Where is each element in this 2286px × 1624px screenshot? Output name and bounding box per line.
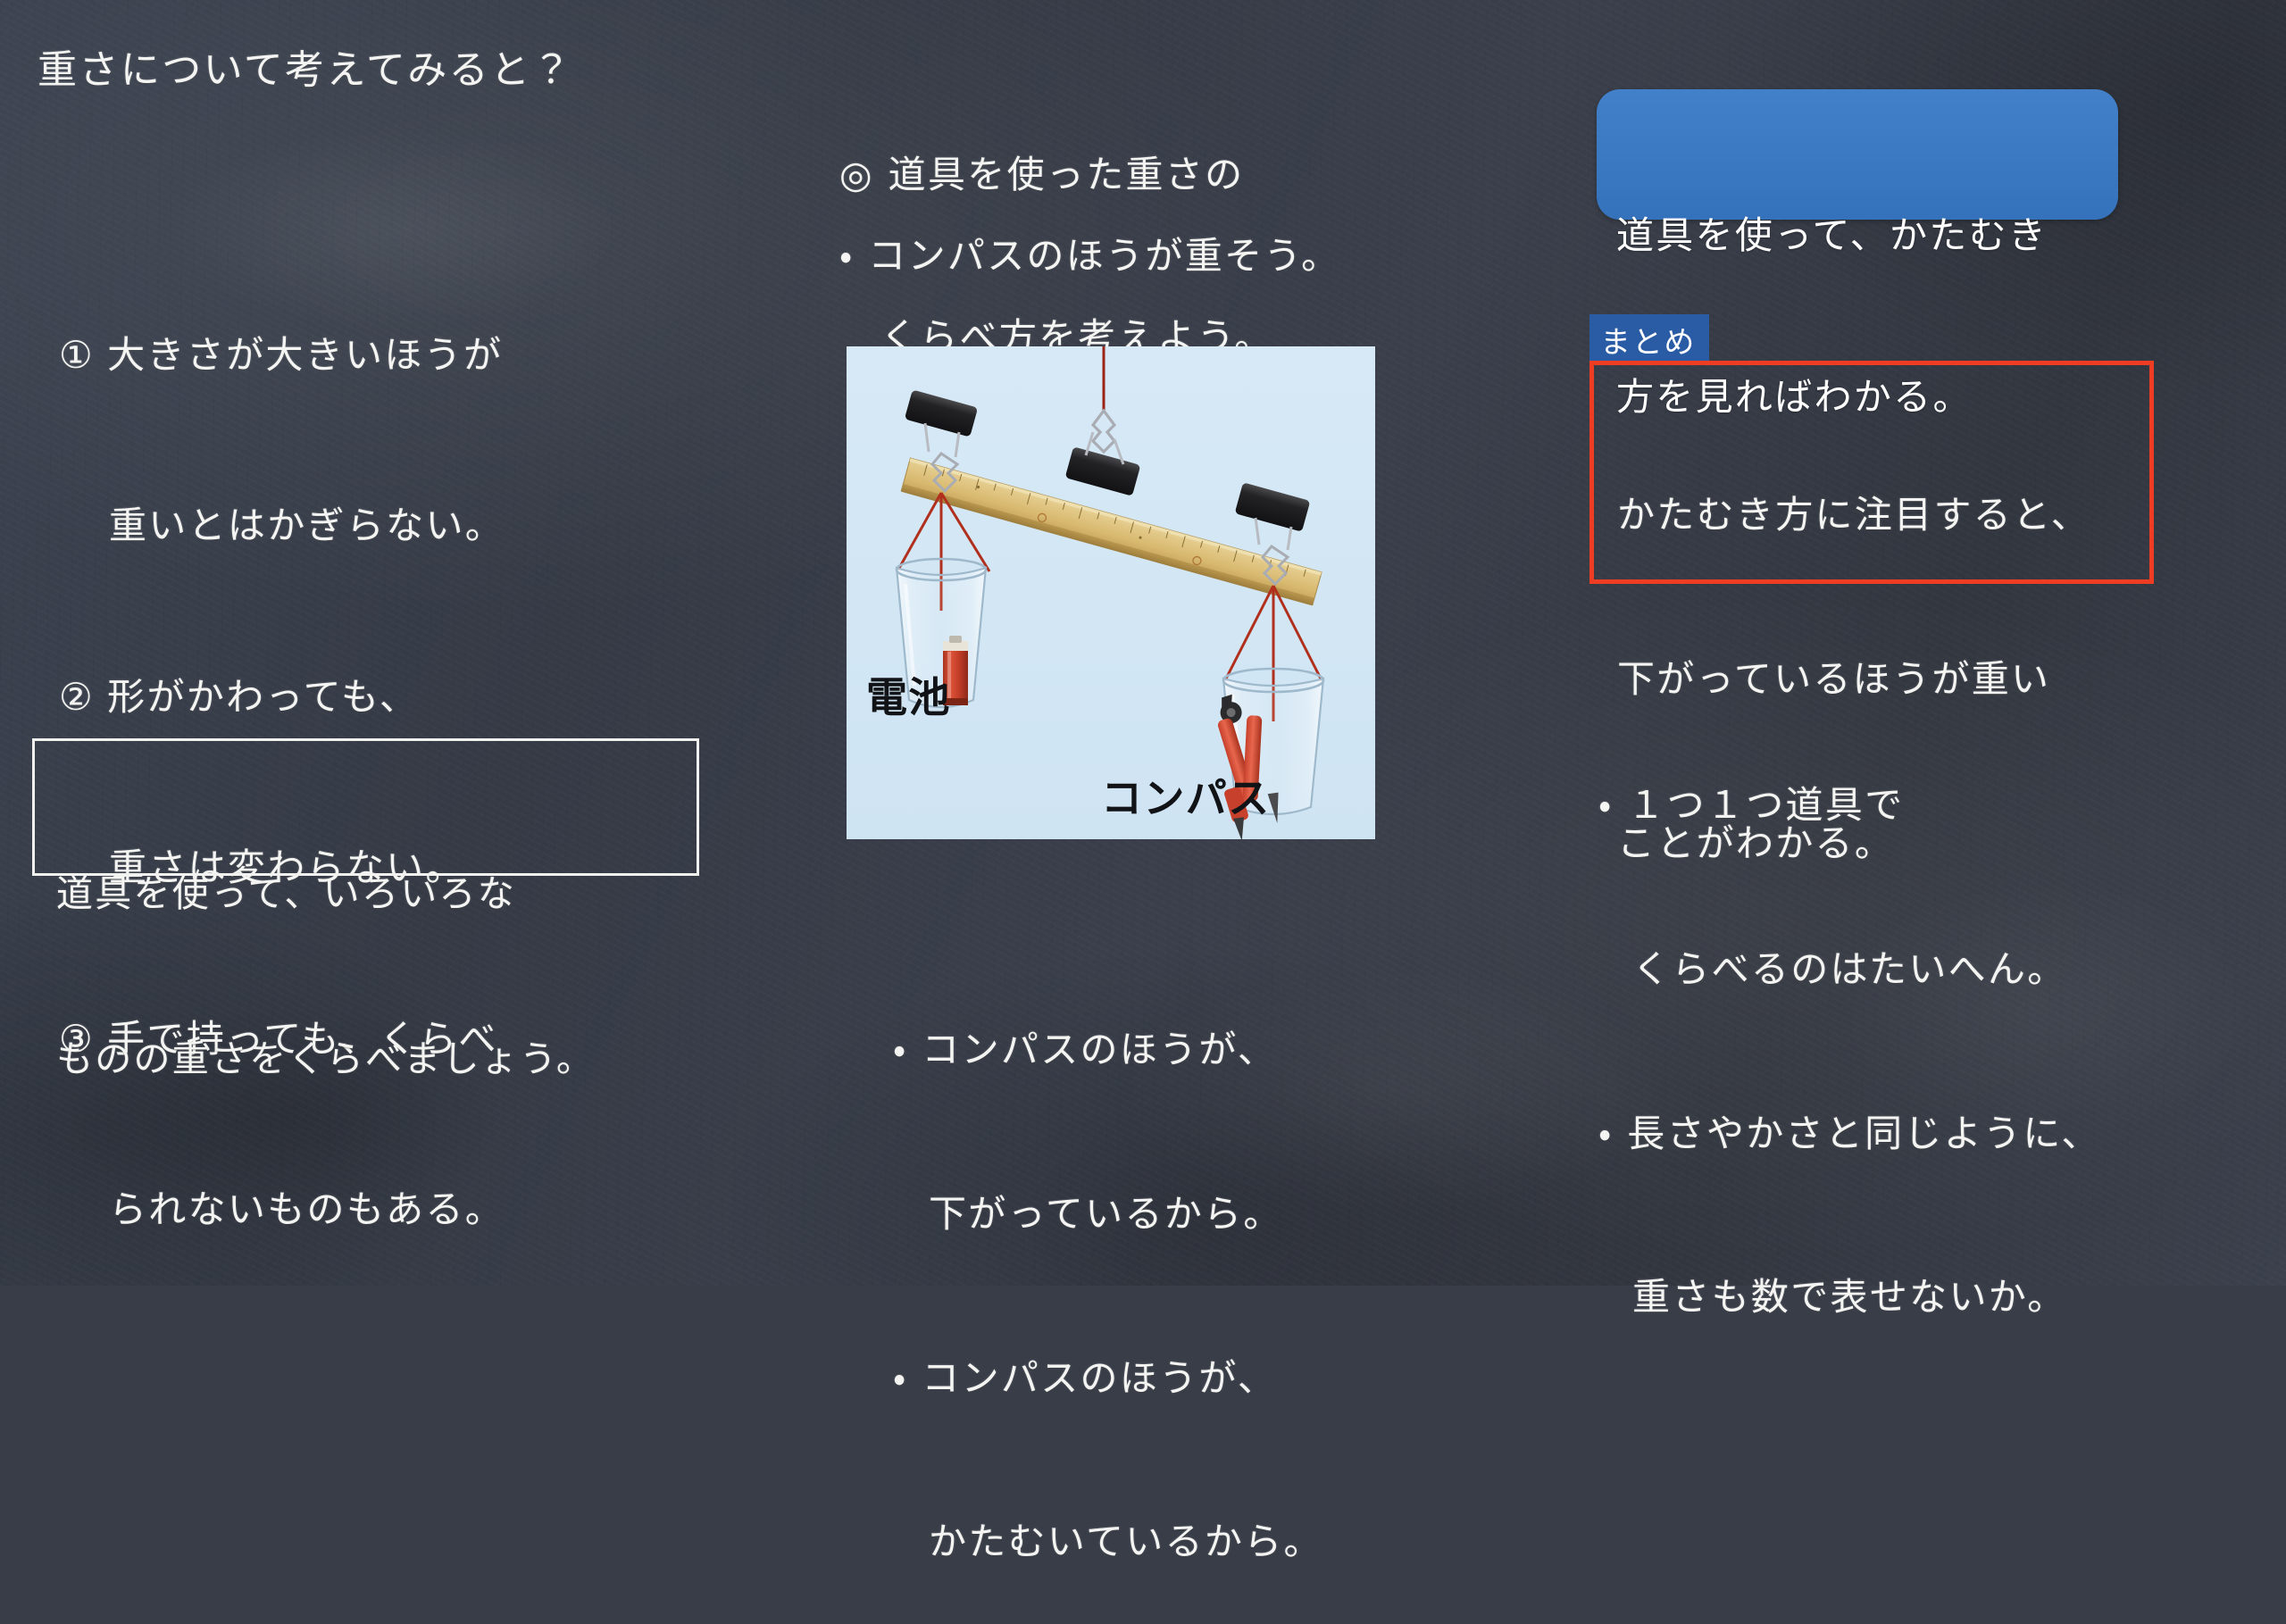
lesson-goal-text: 道具を使った重さの — [889, 153, 1245, 196]
prediction-bullet: ・ コンパスのほうが重そう。 — [839, 230, 1340, 283]
reason-1-text: コンパスのほうが、 — [922, 1028, 1277, 1071]
photo-caption-battery: 電池 — [866, 665, 951, 724]
list-item-1-text: 大きさが大きいほうが — [107, 333, 503, 377]
question-title: 重さについて考えてみると？ — [38, 43, 573, 98]
summary-badge: まとめ — [1589, 314, 1709, 361]
reason-1-line2: 下がっているから。 — [893, 1187, 1323, 1241]
note-1-text: １つ１つ道具で — [1627, 783, 1904, 827]
list-item-1-number: ① — [59, 333, 94, 377]
list-item-2-text: 形がかわっても、 — [107, 675, 419, 719]
activity-instruction-text: 道具を使って、いろいろな ものの重さをくらべましょう。 — [56, 757, 595, 1196]
reason-1-line1: ・ コンパスのほうが、 — [893, 1022, 1323, 1077]
list-item-1-line1: ① 大きさが大きいほうが — [59, 327, 505, 384]
bullet-dot-icon: ・ — [1598, 783, 1614, 827]
bullet-dot-icon: ・ — [893, 1028, 908, 1071]
activity-line-2: ものの重さをくらべましょう。 — [56, 1032, 595, 1087]
conclusion-callout: 道具を使って、かたむき 方を見ればわかる。 — [1597, 89, 2118, 220]
reason-2-line2: かたむいているから。 — [893, 1514, 1323, 1569]
goal-marker-icon: ◎ — [839, 153, 874, 196]
bullet-dot-icon: ・ — [839, 234, 855, 278]
reason-2-line1: ・ コンパスのほうが、 — [893, 1351, 1323, 1405]
summary-line-1: かたむき方に注目すると、 — [1617, 487, 2090, 542]
list-item-2-number: ② — [59, 675, 94, 719]
next-question-list: ・ １つ１つ道具で くらべるのはたいへん。 ・ 長さやかさと同じように、 重さも… — [1598, 668, 2101, 1379]
prediction-text: コンパスのほうが重そう。 — [868, 234, 1340, 278]
note-1-line1: ・ １つ１つ道具で — [1598, 778, 2101, 832]
note-2-line2: 重さも数で表せないか。 — [1598, 1270, 2101, 1324]
summary-box: かたむき方に注目すると、 下がっているほうが重い ことがわかる。 — [1589, 361, 2154, 584]
activity-line-1: 道具を使って、いろいろな — [56, 867, 595, 922]
note-2-line1: ・ 長さやかさと同じように、 — [1598, 1106, 2101, 1161]
note-2-text: 長さやかさと同じように、 — [1627, 1112, 2100, 1155]
note-1-line2: くらべるのはたいへん。 — [1598, 942, 2101, 996]
balance-experiment-photo: 電池 コンパス — [847, 346, 1375, 839]
bullet-dot-icon: ・ — [893, 1356, 908, 1400]
summary-badge-label: まとめ — [1600, 318, 1696, 362]
list-item-2-line1: ② 形がかわっても、 — [59, 669, 505, 726]
photo-caption-compass: コンパス — [1101, 766, 1271, 825]
bullet-dot-icon: ・ — [1598, 1112, 1614, 1155]
callout-line-1: 道具を使って、かたむき — [1616, 209, 2048, 262]
binder-clip-center — [1065, 432, 1141, 496]
list-item-1-line2: 重いとはかぎらない。 — [59, 497, 505, 554]
reason-list: ・ コンパスのほうが、 下がっているから。 ・ コンパスのほうが、 かたむいてい… — [893, 912, 1323, 1624]
activity-instruction-box: 道具を使って、いろいろな ものの重さをくらべましょう。 — [32, 738, 699, 876]
reason-2-text: コンパスのほうが、 — [922, 1356, 1277, 1400]
lesson-goal-line1: ◎ 道具を使った重さの — [839, 148, 1274, 203]
